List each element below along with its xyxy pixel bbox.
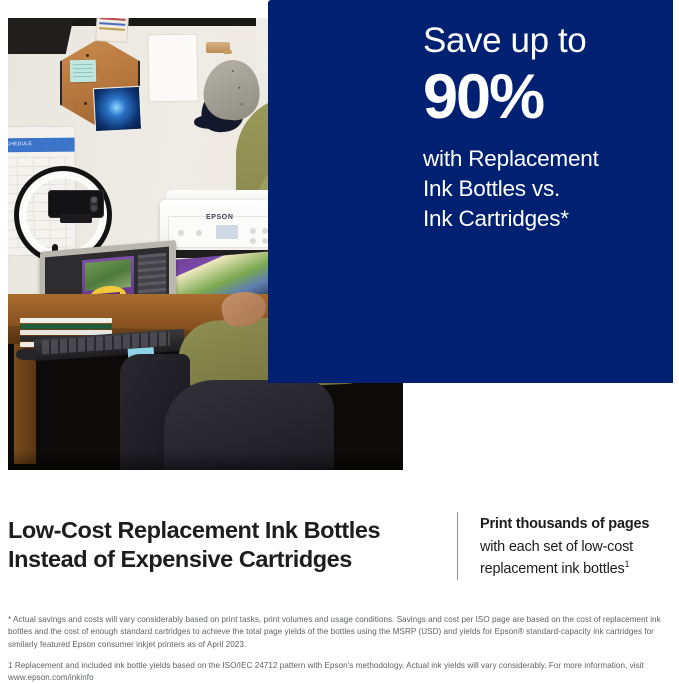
feature-detail-strong: Print thousands of pages	[480, 514, 675, 536]
computer-mouse	[16, 348, 38, 360]
pinned-photo	[93, 86, 142, 132]
footnotes: * Actual savings and costs will vary con…	[8, 614, 672, 684]
promo-panel: Save up to 90% with Replacement Ink Bott…	[268, 0, 673, 383]
phone-camera	[90, 196, 98, 212]
feature-headline: Low-Cost Replacement Ink Bottles Instead…	[8, 516, 440, 574]
feature-detail-line-2: replacement ink bottles1	[480, 558, 675, 580]
photo-bottom-shadow	[8, 450, 403, 470]
feature-headline-line-2: Instead of Expensive Cartridges	[8, 545, 440, 574]
promo-subtext-line-3: Ink Cartridges*	[423, 204, 668, 234]
printer-button	[196, 230, 202, 236]
promo-subtext-line-2: Ink Bottles vs.	[423, 174, 668, 204]
cap-vent	[238, 87, 240, 89]
phone-clamp	[60, 214, 92, 223]
schedule-sheet-banner: SCHEDULE	[8, 138, 75, 153]
printer-button	[178, 230, 184, 236]
feature-detail-line-2-text: replacement ink bottles	[480, 561, 625, 577]
wall-hook-peg	[224, 50, 232, 54]
promo-subtext: with Replacement Ink Bottles vs. Ink Car…	[423, 144, 668, 234]
printer-button	[250, 228, 256, 234]
feature-detail-body: with each set of low-cost replacement in…	[480, 536, 675, 580]
column-divider	[457, 512, 458, 580]
printer-brand-label: EPSON	[206, 214, 234, 221]
promo-headline-big: 90%	[423, 64, 668, 131]
promo-text-block: Save up to 90% with Replacement Ink Bott…	[423, 22, 668, 234]
footnote-marker-1: 1	[625, 559, 630, 569]
feature-section: Low-Cost Replacement Ink Bottles Instead…	[0, 500, 679, 600]
promo-headline-small: Save up to	[423, 22, 668, 60]
footnote-one: 1 Replacement and included ink bottle yi…	[8, 660, 672, 684]
wall-paper	[147, 33, 198, 102]
feature-detail-column: Print thousands of pages with each set o…	[480, 514, 675, 580]
cork-pin	[86, 54, 89, 57]
sticky-note	[70, 60, 96, 82]
feature-headline-column: Low-Cost Replacement Ink Bottles Instead…	[8, 516, 440, 574]
cork-pin	[84, 102, 87, 105]
feature-headline-line-1: Low-Cost Replacement Ink Bottles	[8, 516, 440, 545]
desk-leg	[14, 344, 36, 464]
promo-subtext-line-1: with Replacement	[423, 144, 668, 174]
pinned-card	[95, 18, 129, 43]
footnote-asterisk: * Actual savings and costs will vary con…	[8, 614, 672, 651]
feature-detail-line-1: with each set of low-cost	[480, 536, 675, 558]
cap-vent	[240, 103, 242, 105]
cap-vent	[232, 70, 234, 72]
schedule-sheet-banner-text: SCHEDULE	[8, 141, 32, 147]
photo-corner-shadow	[8, 18, 74, 54]
printer-display	[216, 225, 238, 239]
hero-banner: SCHEDULE	[0, 0, 679, 480]
printer-button	[250, 238, 256, 244]
